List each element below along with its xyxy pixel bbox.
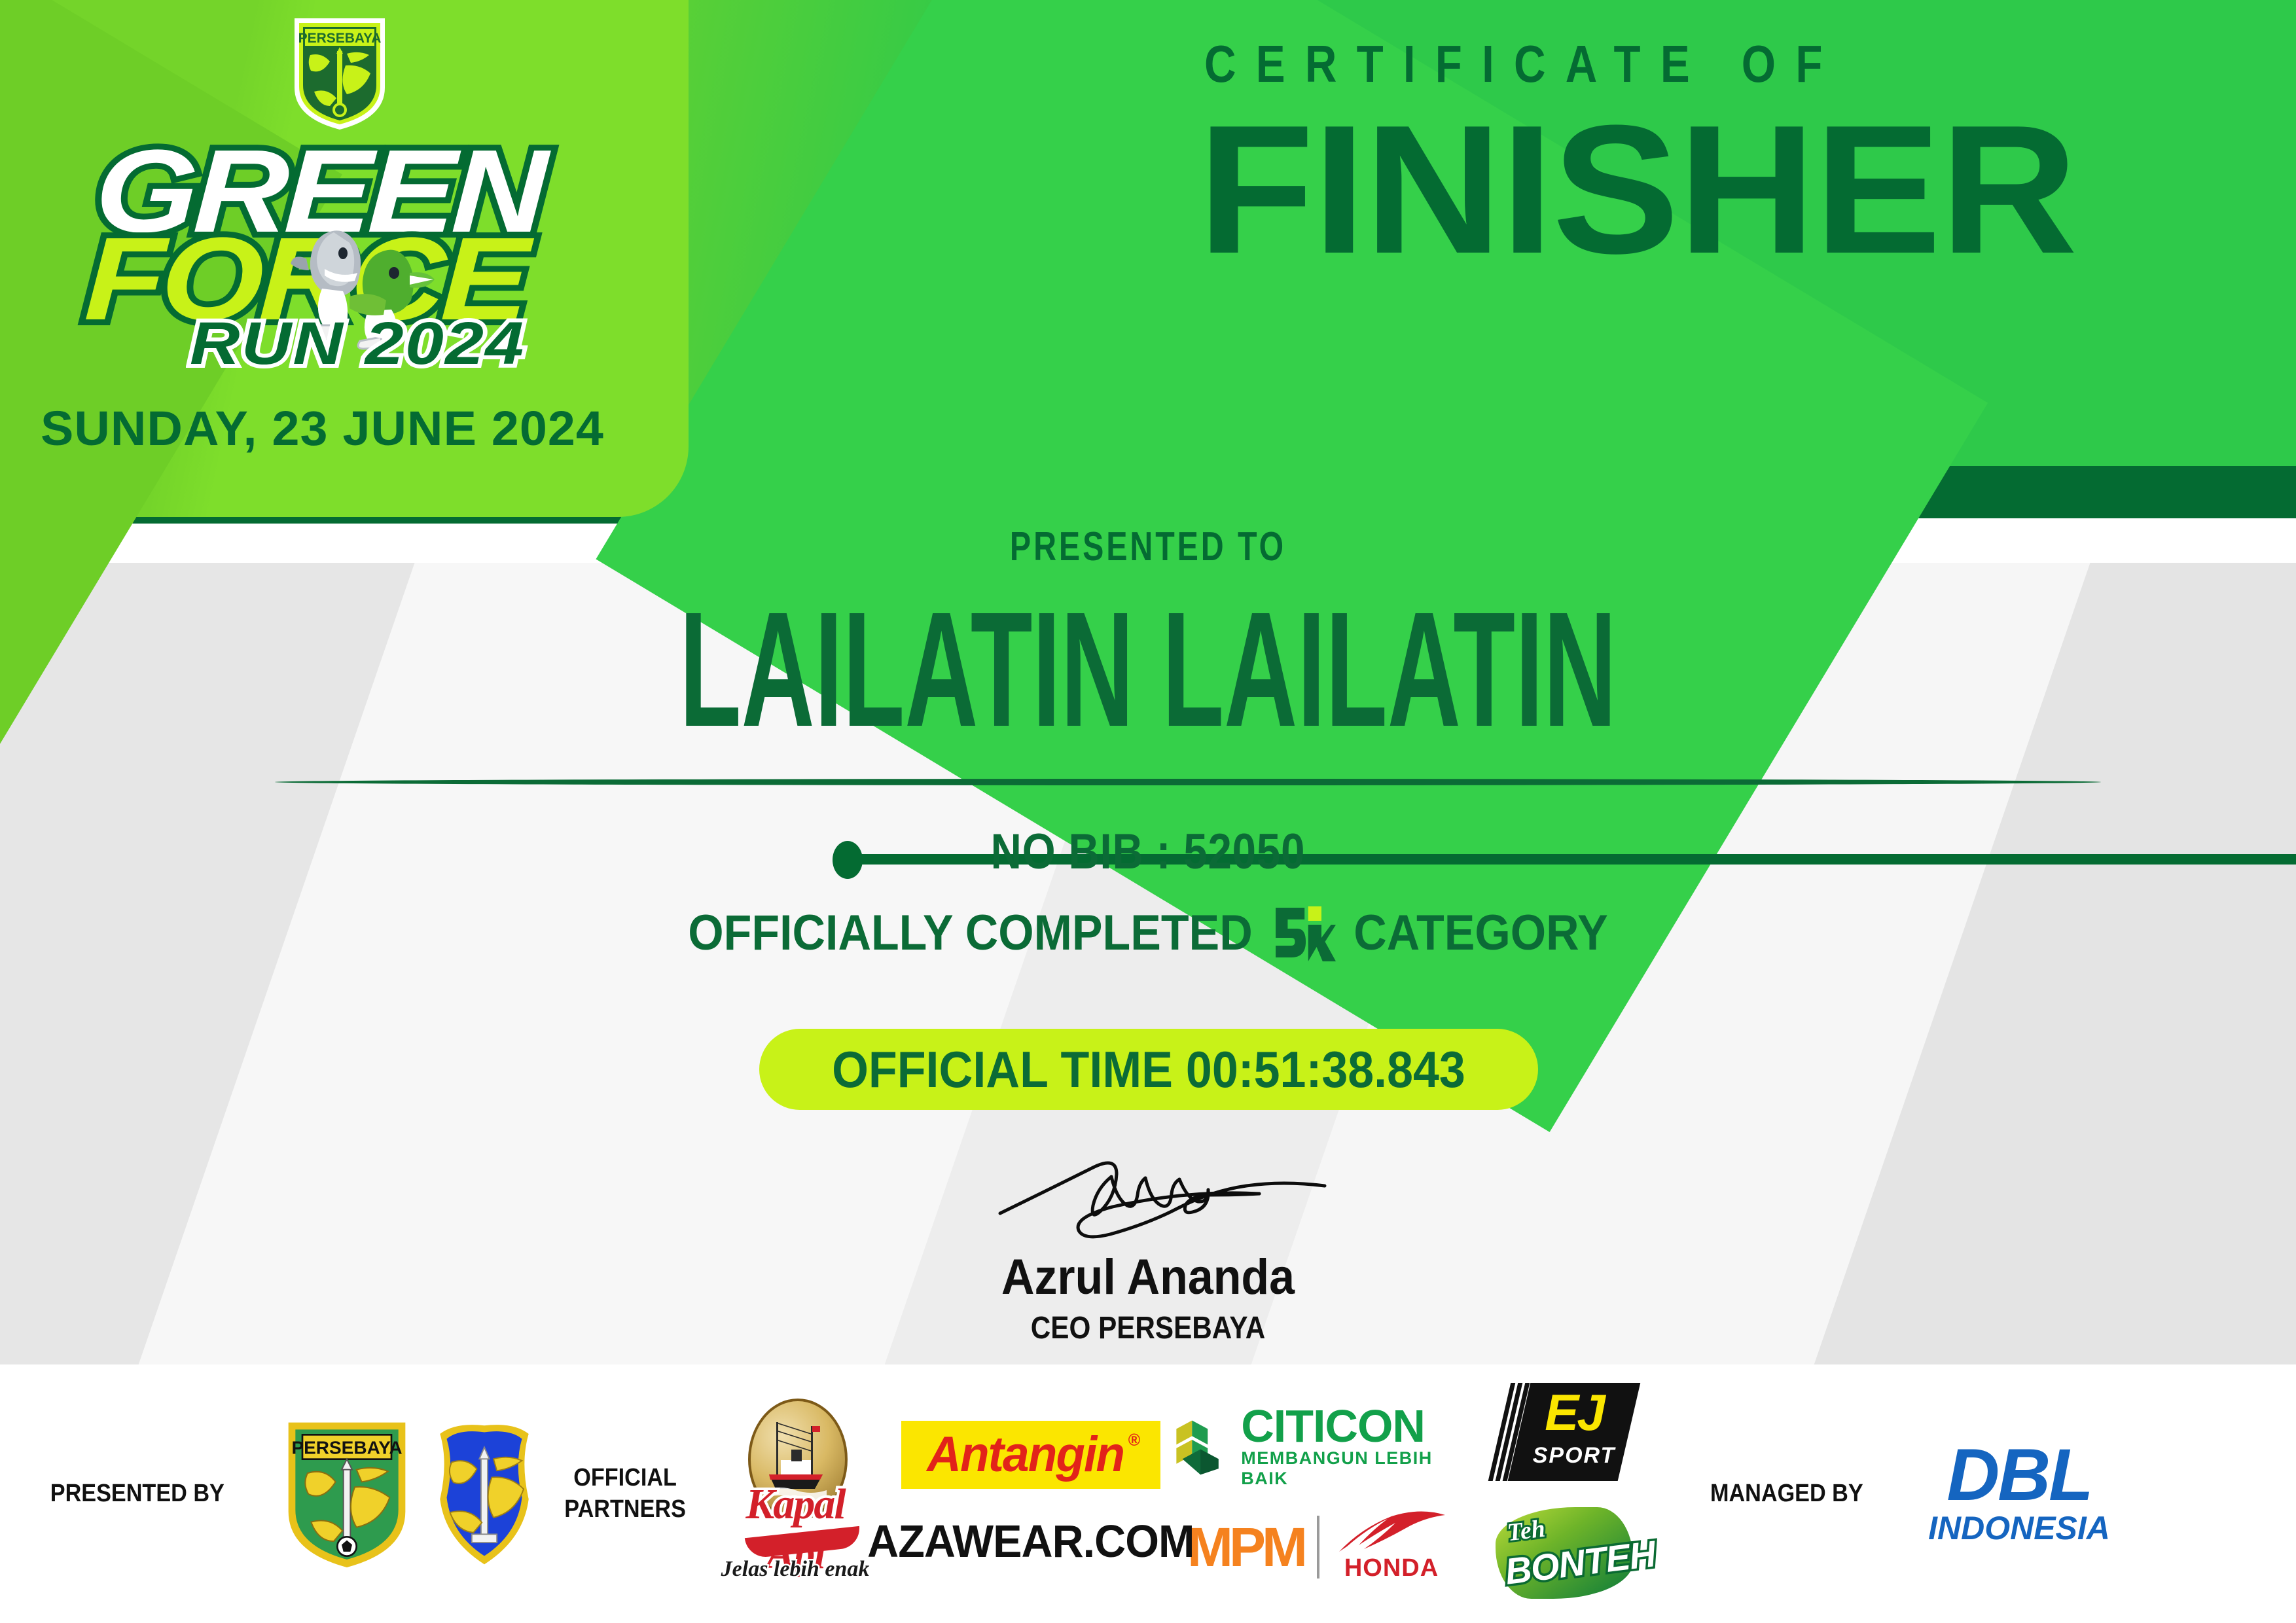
kapal-api-tagline: Jelas lebih enak <box>714 1557 876 1582</box>
honda-logo: HONDA <box>1333 1511 1450 1583</box>
kapal-api-logo: Kapal Api Jelas lebih enak <box>714 1396 876 1592</box>
certificate-page: PERSEBAYA GREEN FORCE <box>0 0 2296 1623</box>
partner-antangin-azawear: Antangin ® AZAWEAR.COM <box>890 1421 1172 1567</box>
honda-wordmark: HONDA <box>1333 1554 1450 1582</box>
dbl-wordmark: DBL <box>1921 1438 2117 1512</box>
mpm-honda-logo: MPM HONDA <box>1187 1511 1450 1583</box>
svg-text:PERSEBAYA: PERSEBAYA <box>298 31 382 46</box>
managed-by-label-wrap: MANAGED BY <box>1662 1478 1911 1510</box>
signature-image <box>962 1158 1355 1243</box>
sponsor-footer: PRESENTED BY PERSEBAYA <box>0 1364 2296 1623</box>
presented-to-label: PRESENTED TO <box>253 524 2043 570</box>
partner-kapal-api: Kapal Api Jelas lebih enak <box>700 1396 890 1592</box>
category-5k-badge <box>1270 905 1335 961</box>
teh-bonteh-logo: Teh BONTEH <box>1496 1501 1633 1605</box>
event-date: SUNDAY, 23 JUNE 2024 <box>41 401 604 456</box>
bonteh-teh-word: Teh <box>1506 1514 1547 1547</box>
registered-trademark-icon: ® <box>1128 1430 1138 1450</box>
persebaya-crest-icon: PERSEBAYA <box>291 14 389 132</box>
logo-run-2024: RUN 2024 <box>190 310 525 378</box>
citicon-logo: CITICON MEMBANGUN LEBIH BAIK <box>1172 1404 1466 1489</box>
dbl-indonesia-sub: INDONESIA <box>1921 1509 2117 1547</box>
persebaya-crest-icon: PERSEBAYA <box>281 1416 412 1573</box>
antangin-wordmark: Antangin <box>927 1426 1124 1483</box>
certificate-type-title: FINISHER <box>1198 98 2076 281</box>
certificate-of-label: CERTIFICATE OF <box>1204 34 1842 94</box>
partner-citicon-mpm: CITICON MEMBANGUN LEBIH BAIK MPM HONDA <box>1172 1404 1466 1583</box>
mpm-wordmark: MPM <box>1187 1520 1304 1575</box>
citicon-tagline: MEMBANGUN LEBIH BAIK <box>1241 1448 1466 1489</box>
bib-number-line: NO BIB : 52050 <box>161 823 2136 880</box>
azawear-logo: AZAWEAR.COM <box>867 1515 1194 1567</box>
footer-persebaya-logo: PERSEBAYA <box>275 1416 419 1573</box>
honda-wing-icon <box>1333 1511 1450 1557</box>
official-time-text: OFFICIAL TIME 00:51:38.843 <box>832 1040 1465 1099</box>
green-force-logo: GREEN FORCE RUN 2024 <box>79 134 615 357</box>
svg-text:PERSEBAYA: PERSEBAYA <box>291 1437 402 1457</box>
official-partners-label-line2: PARTNERS <box>564 1494 686 1525</box>
presented-by-label: PRESENTED BY <box>50 1478 224 1510</box>
citicon-cube-icon <box>1172 1413 1230 1481</box>
recipient-name: LAILATIN LAILATIN <box>437 588 1860 751</box>
managed-by-dbl-logo: DBL INDONESIA <box>1911 1438 2127 1550</box>
official-partners-label-wrap: OFFICIAL PARTNERS <box>550 1463 700 1525</box>
completed-suffix: CATEGORY <box>1354 904 1607 961</box>
managed-by-label: MANAGED BY <box>1710 1478 1863 1510</box>
signatory-role: CEO PERSEBAYA <box>137 1310 2158 1346</box>
surabaya-city-emblem-icon <box>425 1419 543 1569</box>
partner-ejsport-bonteh: EJ SPORT Teh BONTEH <box>1466 1383 1662 1605</box>
ej-sport-logo: EJ SPORT <box>1496 1383 1633 1481</box>
logo-divider <box>1317 1516 1319 1578</box>
category-line: OFFICIALLY COMPLETED CATEGORY <box>92 904 2204 961</box>
footer-surabaya-emblem <box>419 1419 550 1569</box>
ej-wordmark: EJ <box>1519 1388 1629 1436</box>
completed-prefix: OFFICIALLY COMPLETED <box>688 904 1252 961</box>
ej-sport-sub: SPORT <box>1519 1443 1629 1469</box>
citicon-wordmark: CITICON <box>1241 1404 1466 1448</box>
name-underline <box>275 779 2101 785</box>
signatory-name: Azrul Ananda <box>92 1249 2204 1306</box>
official-time-badge: OFFICIAL TIME 00:51:38.843 <box>759 1029 1538 1110</box>
antangin-logo: Antangin ® <box>901 1421 1160 1489</box>
official-partners-label-line1: OFFICIAL <box>564 1463 686 1494</box>
presented-by-label-wrap: PRESENTED BY <box>0 1478 275 1510</box>
